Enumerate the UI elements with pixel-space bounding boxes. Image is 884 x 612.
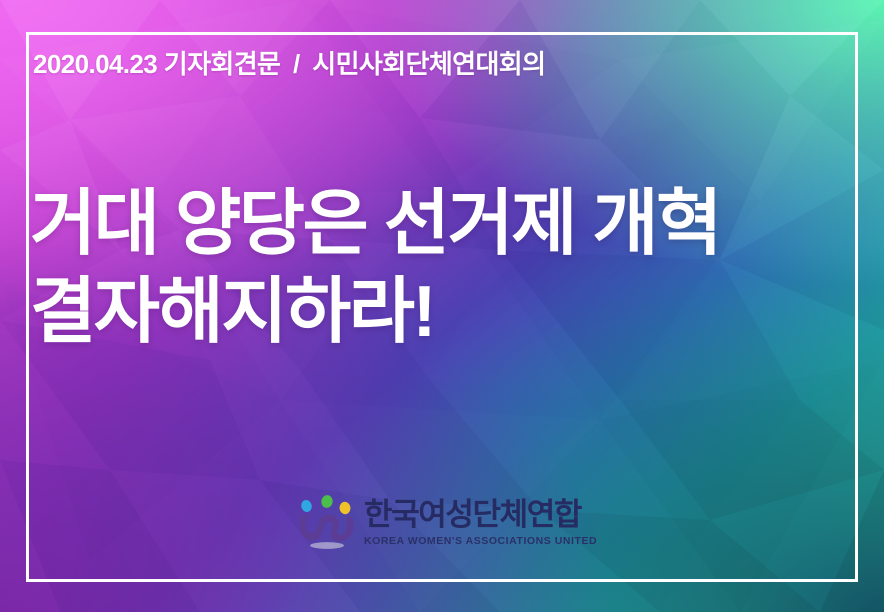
eyebrow-line: 2020.04.23 기자회견문 / 시민사회단체연대회의	[33, 44, 823, 81]
press-release-card: 2020.04.23 기자회견문 / 시민사회단체연대회의 거대 양당은 선거제…	[0, 0, 884, 612]
eyebrow-organizer: 시민사회단체연대회의	[312, 49, 545, 79]
logo-dot-green	[320, 495, 333, 509]
page-title: 거대 양당은 선거제 개혁 결자해지하라!	[30, 180, 854, 356]
eyebrow-date: 2020.04.23	[33, 49, 157, 79]
headline-line-1: 거대 양당은 선거제 개혁	[30, 180, 854, 268]
logo-symbol-path	[300, 514, 354, 541]
logo-dot-yellow	[339, 501, 351, 515]
eyebrow-doc-type: 기자회견문	[164, 49, 281, 79]
logo-name-english: KOREA WOMEN'S ASSOCIATIONS UNITED	[364, 534, 597, 548]
logo-wordmark: 한국여성단체연합 KOREA WOMEN'S ASSOCIATIONS UNIT…	[364, 498, 597, 548]
headline-line-2: 결자해지하라!	[30, 268, 854, 356]
organization-logo: 한국여성단체연합 KOREA WOMEN'S ASSOCIATIONS UNIT…	[296, 492, 596, 554]
logo-name-korean: 한국여성단체연합	[364, 498, 597, 532]
card-content: 2020.04.23 기자회견문 / 시민사회단체연대회의 거대 양당은 선거제…	[0, 0, 884, 612]
logo-dot-blue	[300, 499, 313, 513]
kwau-logo-mark-icon	[296, 495, 358, 551]
eyebrow-separator: /	[287, 49, 306, 79]
logo-shadow-ellipse	[310, 542, 344, 549]
